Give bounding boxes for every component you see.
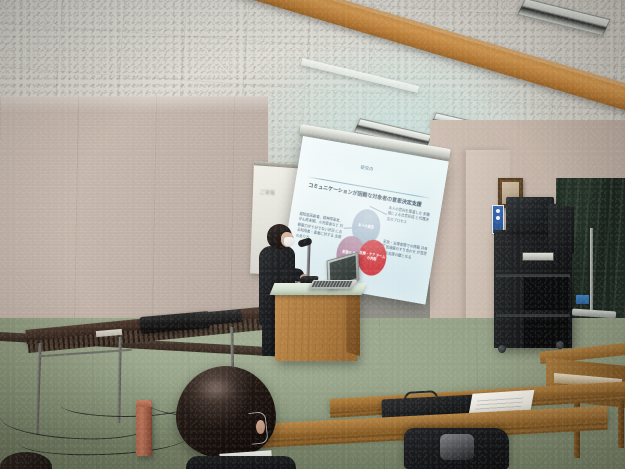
audience-eyeglasses xyxy=(248,411,268,445)
monitor-on-cart xyxy=(506,197,554,231)
podium-wood-grain xyxy=(275,291,357,361)
briefcase-handle xyxy=(404,390,439,403)
projected-slide: 研究の コミュニケーションが困難な対象者の意思決定支援 認知症高齢者、精神障害者… xyxy=(286,143,443,297)
av-device xyxy=(522,252,554,261)
lecture-room-photo: ご来場 研究の コミュニケーションが困難な対象者の意思決定支援 認知症高齢者、精… xyxy=(0,0,625,469)
laptop-keyboard xyxy=(312,281,353,287)
slide-title: 研究の xyxy=(360,164,374,172)
slide-text-top-right: 本人の意向を尊重した 多職種による合意形成 と代理決定のプロセス xyxy=(386,205,432,229)
podium xyxy=(275,291,357,361)
panel-indicator-icon xyxy=(496,209,500,213)
audience-member-front xyxy=(176,366,286,469)
cart-wheel-1 xyxy=(498,345,506,353)
audience-shoulders xyxy=(186,456,296,469)
podium-side-panel xyxy=(346,286,360,357)
bag-highlight xyxy=(440,434,474,460)
cable-bollard xyxy=(136,400,152,456)
rolling-stand-pole xyxy=(590,228,593,312)
panel-indicator-icon-2 xyxy=(496,216,500,220)
monitor-side-panel xyxy=(548,202,574,253)
presenter-face-mask xyxy=(284,237,295,246)
bollard-cap xyxy=(136,400,152,407)
black-bag-foreground xyxy=(404,428,509,469)
cart-shelf-2 xyxy=(496,314,570,317)
slide-heading: コミュニケーションが困難な対象者の意思決定支援 xyxy=(308,181,422,208)
cart-compartment-1 xyxy=(524,277,568,310)
cart-wheel-2 xyxy=(556,341,564,349)
wall-ceiling-joint xyxy=(0,96,268,112)
audience-hair-highlight xyxy=(194,376,238,402)
rolling-stand-box xyxy=(576,295,589,304)
